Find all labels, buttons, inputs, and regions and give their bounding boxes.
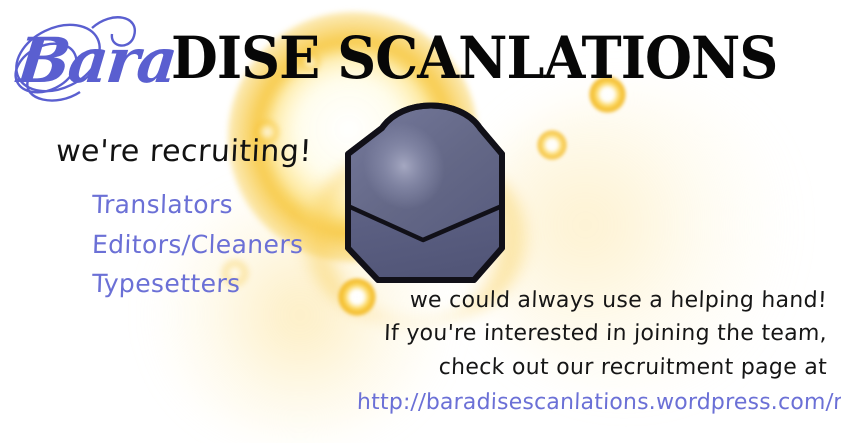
message-column: we could always use a helping hand! If y… — [357, 284, 827, 420]
logo-block-word: DISE SCANLATIONS — [171, 29, 777, 87]
role-item-typesetters: Typesetters — [91, 264, 346, 304]
recruiting-column: we're recruiting! Translators Editors/Cl… — [56, 134, 346, 304]
dome-illustration — [326, 88, 536, 290]
bokeh-ring-icon — [537, 130, 567, 160]
recruitment-url-link[interactable]: http://baradisescanlations.wordpress.com… — [356, 386, 827, 419]
logo-script-word: Bara — [14, 30, 178, 92]
recruiting-headline: we're recruiting! — [55, 134, 347, 169]
message-line-1: we could always use a helping hand! — [356, 284, 827, 317]
role-list: Translators Editors/Cleaners Typesetters — [56, 185, 346, 304]
dome-shape-icon — [326, 88, 536, 290]
message-line-3: check out our recruitment page at — [356, 351, 827, 384]
logo: Bara DISE SCANLATIONS — [0, 26, 841, 96]
role-item-translators: Translators — [91, 185, 346, 225]
role-item-editors-cleaners: Editors/Cleaners — [91, 225, 346, 265]
recruitment-banner: Bara DISE SCANLATIONS we're recruiting! … — [0, 0, 841, 443]
message-line-2: If you're interested in joining the team… — [356, 317, 827, 350]
